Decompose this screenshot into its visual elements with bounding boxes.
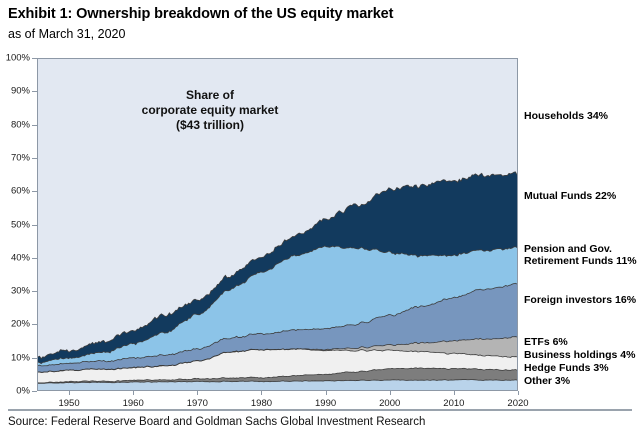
x-axis-tick-mark	[454, 391, 455, 395]
y-axis-tick-label: 10%	[11, 353, 30, 363]
series-label-other: Other 3%	[524, 376, 570, 388]
x-axis-tick-label: 2020	[507, 399, 528, 409]
x-axis-tick-label: 2000	[379, 399, 400, 409]
series-label-foreign-investors: Foreign investors 16%	[524, 295, 636, 307]
y-axis-tick-label: 60%	[11, 186, 30, 196]
y-axis-tick-label: 90%	[11, 87, 30, 97]
y-axis-tick-label: 40%	[11, 253, 30, 263]
series-label-households: Households 34%	[524, 111, 608, 123]
series-label-pension-line2: Retirement Funds 11%	[524, 256, 637, 268]
series-label-mutual-funds: Mutual Funds 22%	[524, 191, 616, 203]
source-note: Source: Federal Reserve Board and Goldma…	[8, 416, 425, 428]
x-axis-tick-label: 1950	[58, 399, 79, 409]
series-label-pension-line1: Pension and Gov.	[524, 244, 637, 256]
series-label-pension: Pension and Gov. Retirement Funds 11%	[524, 244, 637, 267]
y-axis-tick-label: 0%	[16, 386, 30, 396]
y-axis-tick-label: 80%	[11, 120, 30, 130]
page-subtitle: as of March 31, 2020	[8, 27, 125, 41]
footer-divider	[8, 409, 632, 411]
chart-annotation: Share of corporate equity market ($43 tr…	[95, 88, 325, 133]
y-axis: 0%10%20%30%40%50%60%70%80%90%100%	[0, 58, 37, 391]
x-axis-tick-mark	[326, 391, 327, 395]
y-axis-tick-label: 100%	[6, 53, 30, 63]
y-axis-tick-label: 50%	[11, 220, 30, 230]
series-label-hedge-funds: Hedge Funds 3%	[524, 363, 609, 375]
x-axis-tick-label: 1990	[315, 399, 336, 409]
x-axis-tick-mark	[69, 391, 70, 395]
x-axis-tick-label: 1970	[187, 399, 208, 409]
exhibit-container: Exhibit 1: Ownership breakdown of the US…	[0, 0, 640, 441]
series-label-business-holdings: Business holdings 4%	[524, 350, 635, 362]
y-axis-tick-label: 30%	[11, 286, 30, 296]
x-axis-tick-mark	[133, 391, 134, 395]
x-axis-tick-label: 1980	[251, 399, 272, 409]
y-axis-tick-label: 20%	[11, 320, 30, 330]
x-axis-tick-mark	[390, 391, 391, 395]
y-axis-tick-label: 70%	[11, 153, 30, 163]
page-title: Exhibit 1: Ownership breakdown of the US…	[8, 6, 393, 22]
x-axis-tick-label: 2010	[443, 399, 464, 409]
chart-annotation-line3: ($43 trillion)	[95, 118, 325, 133]
x-axis-tick-mark	[197, 391, 198, 395]
chart-annotation-line2: corporate equity market	[95, 103, 325, 118]
series-label-etfs: ETFs 6%	[524, 337, 568, 349]
x-axis-tick-label: 1960	[123, 399, 144, 409]
chart-annotation-line1: Share of	[95, 88, 325, 103]
x-axis-tick-mark	[261, 391, 262, 395]
x-axis-tick-mark	[518, 391, 519, 395]
